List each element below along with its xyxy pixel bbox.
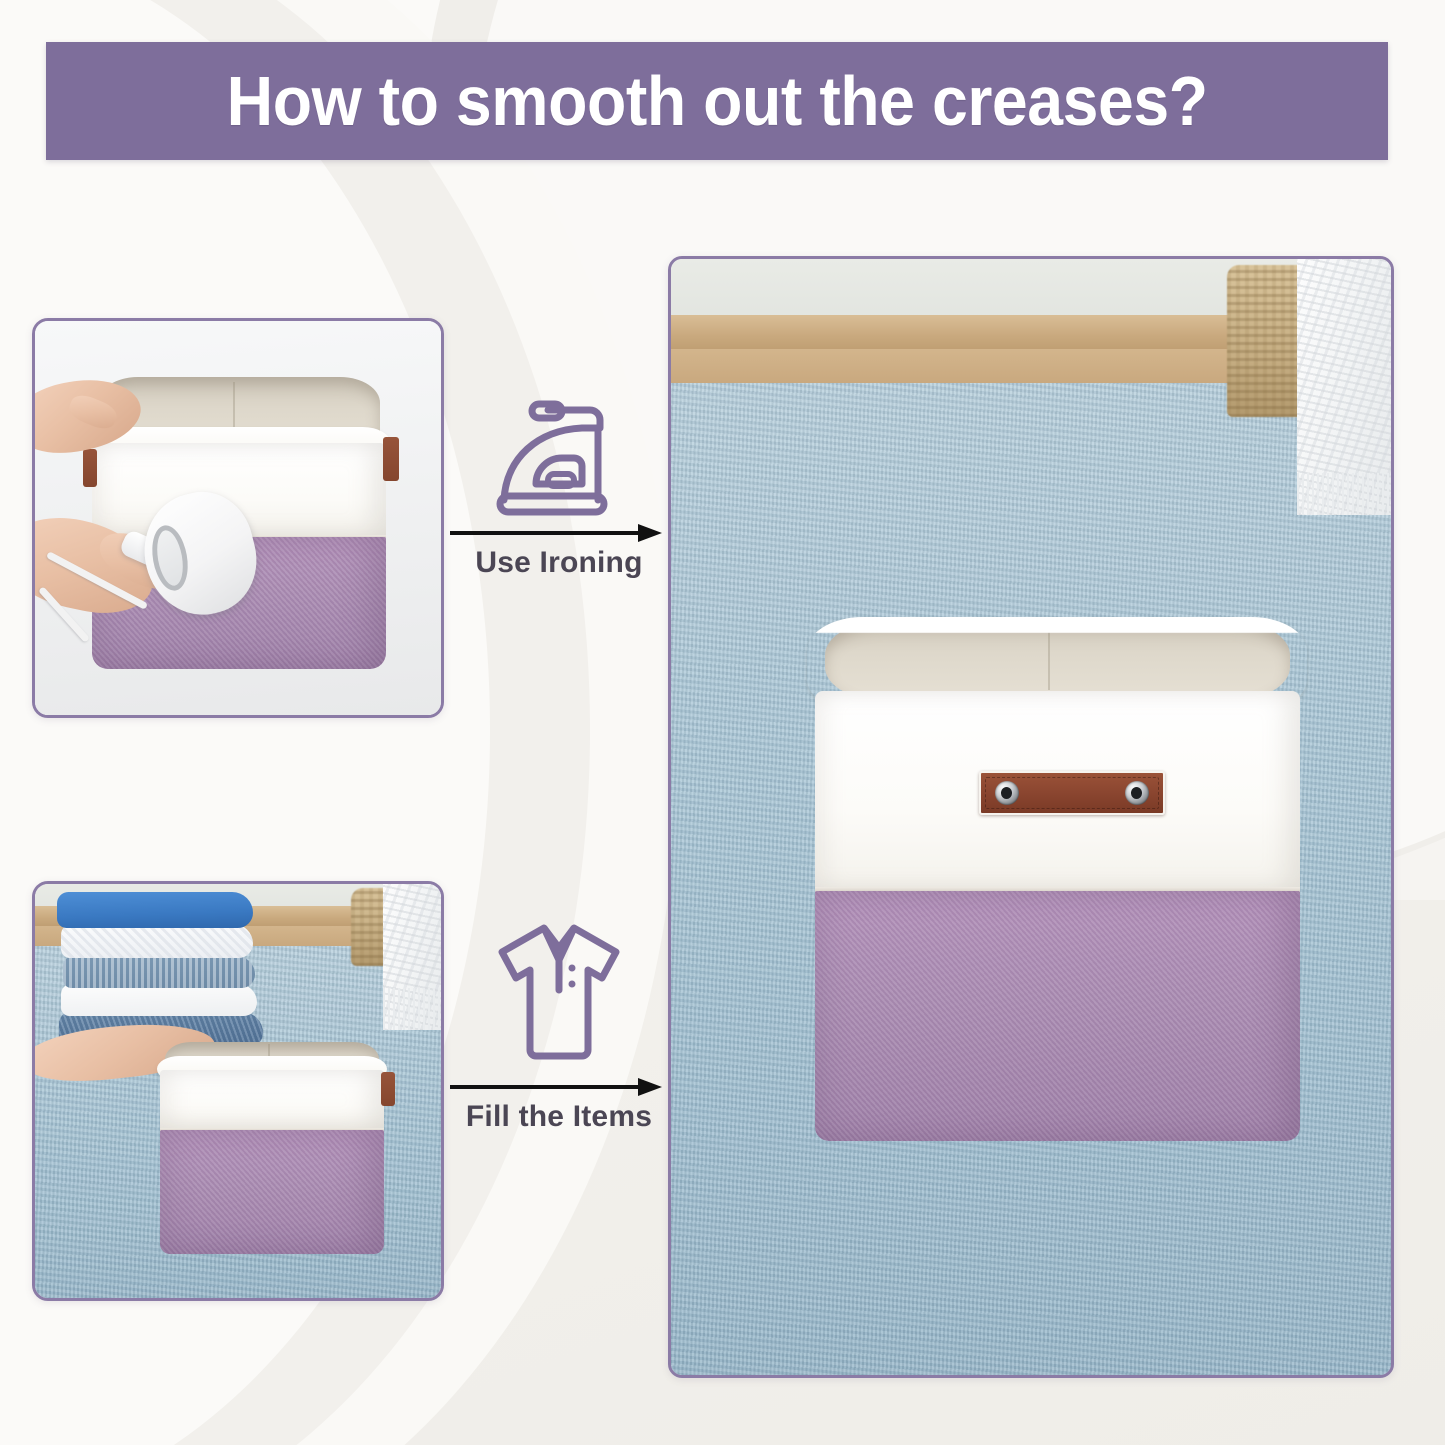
step-use-ironing: Use Ironing <box>452 396 666 586</box>
step-caption-fill: Fill the Items <box>452 1100 666 1134</box>
steaming-basket-photo <box>32 318 444 718</box>
step-arrow <box>450 522 666 544</box>
folded-item-gray <box>63 956 255 988</box>
fabric-basket <box>807 621 1307 1141</box>
basket-side-tab-right <box>383 437 399 481</box>
curtain-fringe <box>383 988 441 1030</box>
finished-basket-photo <box>668 256 1394 1378</box>
folded-item-blue <box>57 892 253 928</box>
title-banner: How to smooth out the creases? <box>46 42 1388 160</box>
basket-side-tab-right <box>381 1072 395 1106</box>
handle-grommet-left <box>995 781 1019 805</box>
arrow-head-icon <box>638 524 662 542</box>
arrow-line <box>450 531 642 535</box>
handle-grommet-right <box>1125 781 1149 805</box>
page-title: How to smooth out the creases? <box>227 61 1208 141</box>
arrow-line <box>450 1085 642 1089</box>
fabric-basket <box>157 1042 387 1268</box>
window-curtain <box>1297 259 1391 515</box>
step-fill-the-items: Fill the Items <box>452 918 666 1138</box>
arrow-head-icon <box>638 1078 662 1096</box>
basket-purple-body <box>160 1130 383 1254</box>
curtain-fringe <box>1297 473 1391 515</box>
step-caption-ironing: Use Ironing <box>452 546 666 580</box>
basket-purple-body <box>815 891 1300 1141</box>
folded-item-white-2 <box>61 984 257 1016</box>
basket-white-body <box>160 1070 383 1130</box>
leather-handle <box>979 771 1165 815</box>
folded-item-white-1 <box>61 924 253 958</box>
filling-basket-photo <box>32 881 444 1301</box>
polo-shirt-icon <box>484 918 634 1070</box>
window-curtain <box>383 884 441 1030</box>
clothes-iron-icon <box>486 396 632 522</box>
step-arrow <box>450 1076 666 1098</box>
basket-side-tab-left <box>83 449 97 487</box>
